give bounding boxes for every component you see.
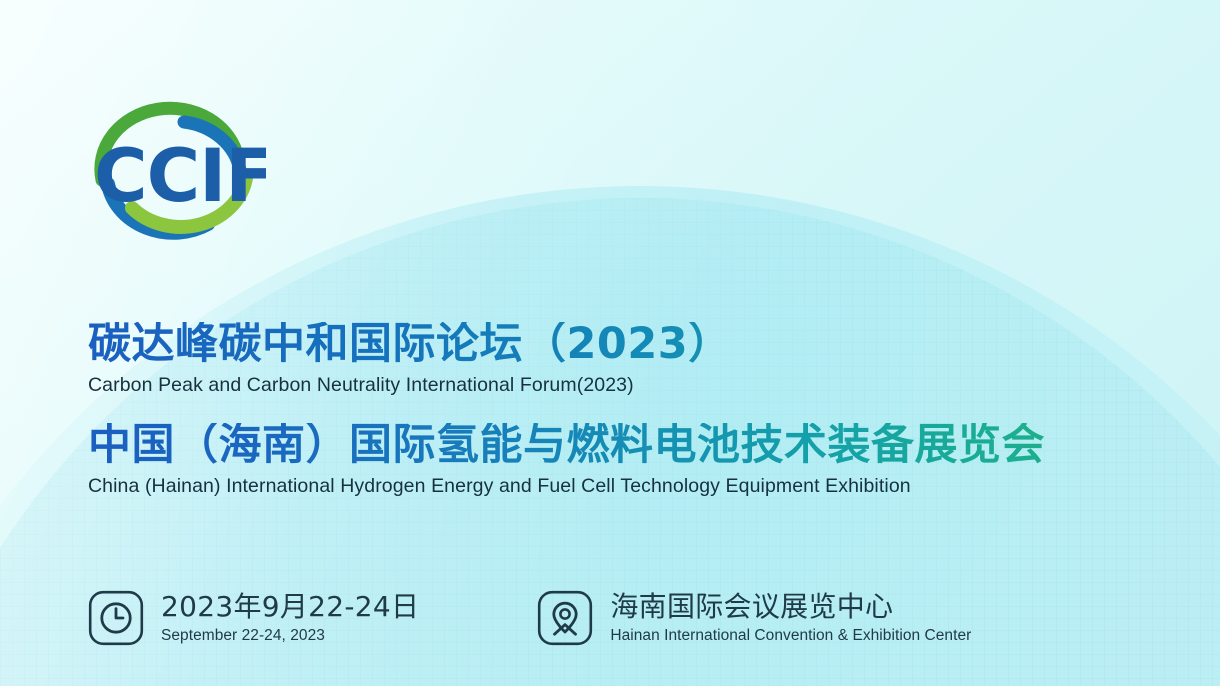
- event-poster: CCIF 碳达峰碳中和国际论坛（2023） Carbon Peak and Ca…: [0, 0, 1220, 686]
- event-venue-cn: 海南国际会议展览中心: [610, 591, 971, 623]
- forum-title-en: Carbon Peak and Carbon Neutrality Intern…: [88, 374, 1148, 397]
- headings-block: 碳达峰碳中和国际论坛（2023） Carbon Peak and Carbon …: [88, 322, 1148, 498]
- event-date-cn: 2023年9月22-24日: [161, 591, 419, 623]
- event-date-en: September 22-24, 2023: [161, 627, 419, 646]
- location-pin-icon: [537, 590, 593, 646]
- event-info-bar: 2023年9月22-24日 September 22-24, 2023 海南国际…: [88, 590, 971, 646]
- forum-title-cn: 碳达峰碳中和国际论坛（2023）: [88, 322, 1148, 367]
- event-date-text: 2023年9月22-24日 September 22-24, 2023: [161, 591, 419, 646]
- event-venue-item: 海南国际会议展览中心 Hainan International Conventi…: [537, 590, 971, 646]
- event-venue-text: 海南国际会议展览中心 Hainan International Conventi…: [610, 591, 971, 646]
- logo-wordmark: CCIF: [94, 134, 266, 219]
- ccif-logo: CCIF: [88, 100, 266, 240]
- exhibition-title-en: China (Hainan) International Hydrogen En…: [88, 475, 1148, 498]
- exhibition-title-cn: 中国（海南）国际氢能与燃料电池技术装备展览会: [88, 423, 1148, 468]
- event-date-item: 2023年9月22-24日 September 22-24, 2023: [88, 590, 419, 646]
- clock-icon: [88, 590, 144, 646]
- event-venue-en: Hainan International Convention & Exhibi…: [610, 627, 971, 646]
